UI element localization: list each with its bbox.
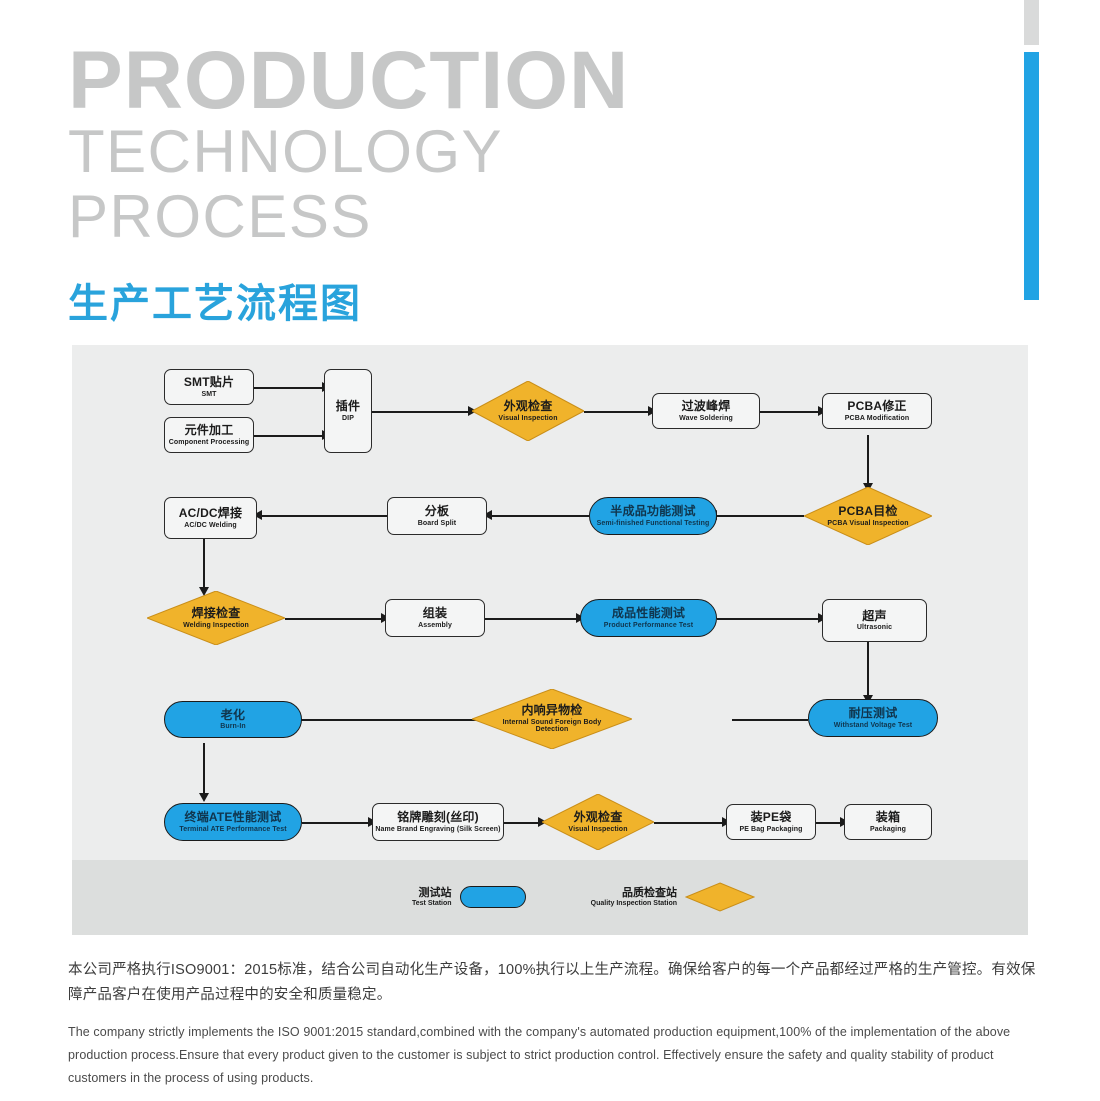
node-packaging-en: Packaging [870,826,906,833]
node-component-processing-en: Component Processing [169,439,250,446]
node-pcba-visual-inspection[interactable]: PCBA目检 PCBA Visual Inspection [804,487,932,545]
legend-test-station-en: Test Station [412,900,452,908]
node-withstand-voltage-test-en: Withstand Voltage Test [834,722,913,729]
node-wave-soldering-cn: 过波峰焊 [682,400,731,413]
connector-visual1-wave [584,411,652,413]
node-burn-in-cn: 老化 [221,709,245,722]
node-assembly-en: Assembly [418,622,452,629]
node-ultrasonic-cn: 超声 [862,610,886,623]
node-internal-sound-foreign-body-detection-en: Internal Sound Foreign Body Detection [498,719,606,734]
node-burn-in[interactable]: 老化 Burn-In [164,701,302,738]
node-product-performance-test-cn: 成品性能测试 [612,607,685,620]
node-component-processing[interactable]: 元件加工 Component Processing [164,417,254,453]
node-acdc-welding-cn: AC/DC焊接 [179,507,242,520]
node-name-brand-engraving-en: Name Brand Engraving (Silk Screen) [375,826,500,833]
node-visual-inspection-2[interactable]: 外观检查 Visual Inspection [542,794,654,850]
page-title-chinese: 生产工艺流程图 [68,271,629,329]
node-internal-sound-foreign-body-detection[interactable]: 内响异物检 Internal Sound Foreign Body Detect… [472,689,632,749]
legend-item-quality-inspection-station: 品质检查站 Quality Inspection Station [572,882,755,912]
node-semi-finished-functional-testing-en: Semi-finished Functional Testing [597,520,710,527]
node-component-processing-cn: 元件加工 [185,424,234,437]
node-dip-en: DIP [342,415,354,422]
connector-ultrasonic-withstand [867,642,869,699]
connector-withstand-foreignbody [732,719,808,721]
node-withstand-voltage-test[interactable]: 耐压测试 Withstand Voltage Test [808,699,938,737]
node-ultrasonic-en: Ultrasonic [857,624,892,631]
node-pcba-modification-en: PCBA Modification [845,415,909,422]
page-header: PRODUCTION TECHNOLOGY PROCESS 生产工艺流程图 [68,42,629,329]
connector-burnin-ate [203,743,205,797]
node-packaging-cn: 装箱 [876,811,900,824]
node-internal-sound-foreign-body-detection-cn: 内响异物检 [521,704,582,717]
node-product-performance-test[interactable]: 成品性能测试 Product Performance Test [580,599,717,637]
connector-smt-dip [254,387,324,389]
node-packaging[interactable]: 装箱 Packaging [844,804,932,840]
connector-boardsplit-acdc [257,515,387,517]
node-assembly[interactable]: 组装 Assembly [385,599,485,637]
node-pe-bag-packaging-en: PE Bag Packaging [739,826,802,833]
node-semi-finished-functional-testing-cn: 半成品功能测试 [610,505,695,518]
connector-acdc-weldinsp [203,539,205,591]
node-visual-inspection-1[interactable]: 外观检查 Visual Inspection [472,381,584,441]
node-smt-cn: SMT贴片 [184,376,234,389]
node-wave-soldering-en: Wave Soldering [679,415,733,422]
node-ultrasonic[interactable]: 超声 Ultrasonic [822,599,927,642]
legend-test-station-text: 测试站 Test Station [412,887,452,908]
legend-quality-station-cn: 品质检查站 [572,887,677,899]
node-smt[interactable]: SMT贴片 SMT [164,369,254,405]
connector-wave-pcbamod [760,411,822,413]
node-acdc-welding[interactable]: AC/DC焊接 AC/DC Welding [164,497,257,539]
header-line-technology: TECHNOLOGY [68,120,629,185]
node-terminal-ate-performance-test-cn: 终端ATE性能测试 [185,811,282,824]
node-pcba-visual-inspection-en: PCBA Visual Inspection [827,520,908,527]
footer-text-chinese: 本公司严格执行ISO9001：2015标准，结合公司自动化生产设备，100%执行… [68,958,1043,1009]
node-pe-bag-packaging-cn: 装PE袋 [751,811,792,824]
node-welding-inspection-cn: 焊接检查 [192,607,241,620]
node-visual-inspection-1-cn: 外观检查 [504,400,553,413]
node-name-brand-engraving[interactable]: 铭牌雕刻(丝印) Name Brand Engraving (Silk Scre… [372,803,504,841]
connector-pcbamod-pcbavisual [867,435,869,487]
node-dip-cn: 插件 [336,400,360,413]
node-semi-finished-functional-testing[interactable]: 半成品功能测试 Semi-finished Functional Testing [589,497,717,535]
accent-bar-gray [1024,0,1039,45]
flowchart-panel: SMT贴片 SMT 元件加工 Component Processing 插件 D… [72,345,1028,860]
node-board-split-en: Board Split [418,520,456,527]
node-visual-inspection-2-en: Visual Inspection [568,826,627,833]
node-wave-soldering[interactable]: 过波峰焊 Wave Soldering [652,393,760,429]
connector-semitest-boardsplit [487,515,589,517]
connector-ate-engraving [302,822,372,824]
node-dip[interactable]: 插件 DIP [324,369,372,453]
node-visual-inspection-1-en: Visual Inspection [498,415,557,422]
header-line-production: PRODUCTION [68,42,629,120]
node-pcba-modification[interactable]: PCBA修正 PCBA Modification [822,393,932,429]
header-line-process: PROCESS [68,185,629,250]
node-board-split-cn: 分板 [425,505,449,518]
connector-perftest-ultrasonic [717,618,822,620]
production-process-page: PRODUCTION TECHNOLOGY PROCESS 生产工艺流程图 [0,0,1100,1101]
connector-visual2-pebag [654,822,726,824]
node-acdc-welding-en: AC/DC Welding [184,522,237,529]
node-assembly-cn: 组装 [423,607,447,620]
flowchart: SMT贴片 SMT 元件加工 Component Processing 插件 D… [72,345,1028,860]
legend-quality-station-en: Quality Inspection Station [572,900,677,908]
node-smt-en: SMT [201,391,216,398]
node-burn-in-en: Burn-In [220,723,246,730]
node-pcba-visual-inspection-cn: PCBA目检 [838,505,897,518]
accent-bar-blue [1024,52,1039,300]
node-name-brand-engraving-cn: 铭牌雕刻(丝印) [397,811,479,824]
node-visual-inspection-2-cn: 外观检查 [574,811,623,824]
connector-pcbavisual-semitest [712,515,804,517]
legend-pill-swatch-icon [460,886,526,908]
node-withstand-voltage-test-cn: 耐压测试 [849,707,898,720]
connector-dip-visual1 [372,411,472,413]
footer-text-english: The company strictly implements the ISO … [68,1021,1043,1090]
connector-assembly-perftest [485,618,580,620]
connector-weldinsp-assembly [285,618,385,620]
legend-item-test-station: 测试站 Test Station [412,886,526,908]
footer: 本公司严格执行ISO9001：2015标准，结合公司自动化生产设备，100%执行… [68,958,1043,1090]
node-welding-inspection-en: Welding Inspection [183,622,249,629]
node-terminal-ate-performance-test-en: Terminal ATE Performance Test [179,826,286,833]
node-terminal-ate-performance-test[interactable]: 终端ATE性能测试 Terminal ATE Performance Test [164,803,302,841]
legend-test-station-cn: 测试站 [412,887,452,899]
node-welding-inspection[interactable]: 焊接检查 Welding Inspection [147,591,285,645]
connector-component-dip [254,435,324,437]
node-pe-bag-packaging[interactable]: 装PE袋 PE Bag Packaging [726,804,816,840]
legend-quality-station-text: 品质检查站 Quality Inspection Station [572,887,677,908]
node-pcba-modification-cn: PCBA修正 [847,400,906,413]
legend-band: 测试站 Test Station 品质检查站 Quality Inspectio… [72,860,1028,935]
arrowhead-burnin-ate [199,793,209,802]
node-product-performance-test-en: Product Performance Test [604,622,693,629]
node-board-split[interactable]: 分板 Board Split [387,497,487,535]
legend-diamond-swatch-icon [685,882,755,912]
